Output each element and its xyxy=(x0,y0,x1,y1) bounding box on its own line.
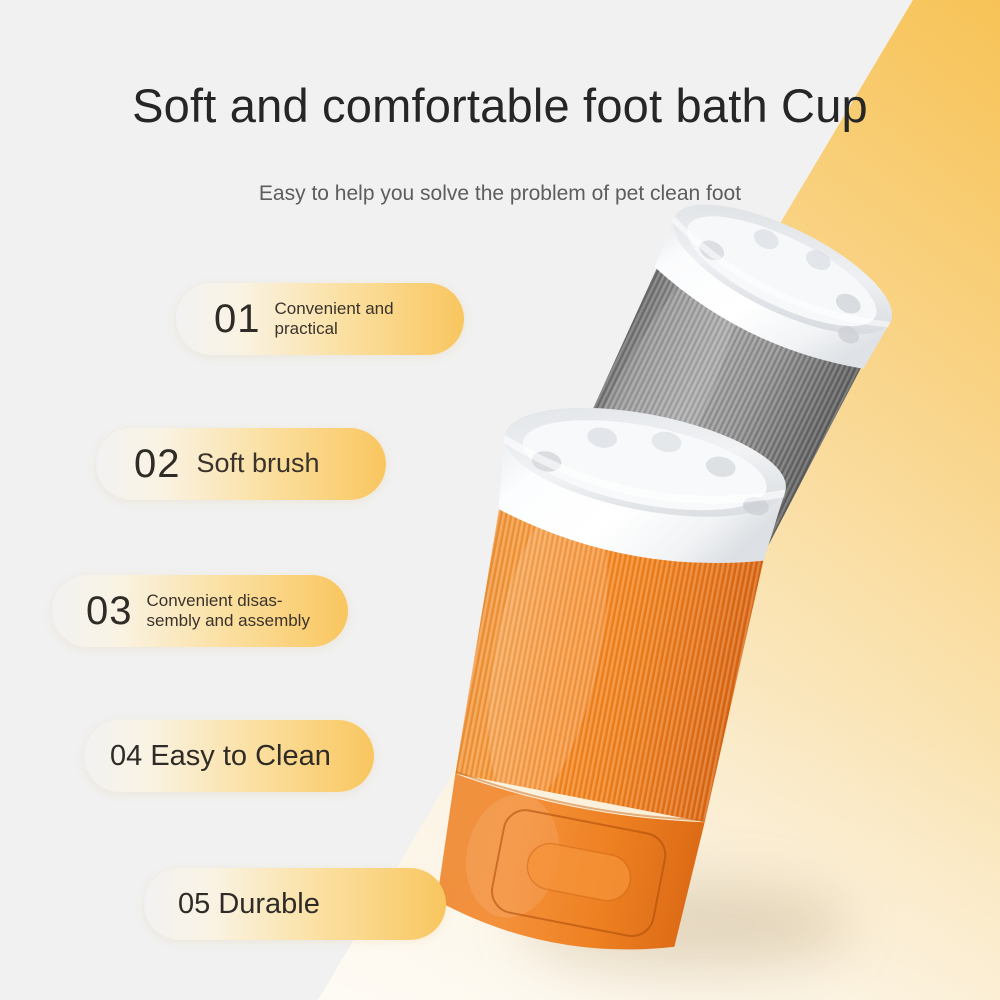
feature-number-03: 03 xyxy=(86,591,133,631)
feature-pill-01[interactable]: 01 Convenient and practical xyxy=(176,283,464,355)
feature-pill-04[interactable]: 04 Easy to Clean xyxy=(84,720,374,792)
feature-number-01: 01 xyxy=(214,299,261,339)
product-poster: Soft and comfortable foot bath Cup Easy … xyxy=(0,0,1000,1000)
feature-pill-05[interactable]: 05 Durable xyxy=(144,868,446,940)
feature-label-05: 05 Durable xyxy=(178,890,320,919)
feature-label-02: Soft brush xyxy=(197,448,320,480)
page-subtitle: Easy to help you solve the problem of pe… xyxy=(0,182,1000,206)
feature-pill-03[interactable]: 03 Convenient disas- sembly and assembly xyxy=(52,575,348,647)
page-title: Soft and comfortable foot bath Cup xyxy=(0,78,1000,133)
product-image xyxy=(0,0,1000,1000)
feature-pill-02[interactable]: 02 Soft brush xyxy=(96,428,386,500)
feature-label-01: Convenient and practical xyxy=(275,299,394,339)
feature-label-03: Convenient disas- sembly and assembly xyxy=(147,591,310,631)
feature-label-04: 04 Easy to Clean xyxy=(110,742,331,771)
feature-number-02: 02 xyxy=(134,444,181,484)
